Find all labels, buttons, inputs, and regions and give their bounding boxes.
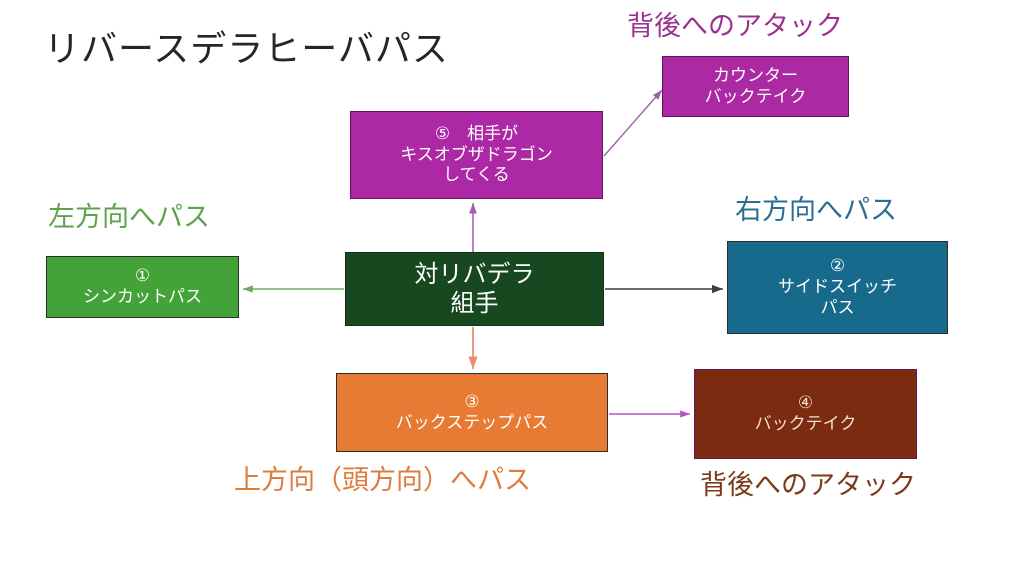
- node-shin-cut-pass[interactable]: ① シンカットパス: [46, 256, 239, 318]
- node-kiss-of-the-dragon[interactable]: ⑤ 相手が キスオブザドラゴン してくる: [350, 111, 603, 199]
- node-counter-backtake-line2: バックテイク: [705, 87, 807, 108]
- node-center-grip[interactable]: 対リバデラ 組手: [345, 252, 604, 326]
- node-backstep-pass-label: バックステップパス: [396, 413, 549, 434]
- node-backstep-pass[interactable]: ③ バックステップパス: [336, 373, 608, 452]
- label-up-direction: 上方向（頭方向）へパス: [234, 466, 531, 496]
- node-backtake[interactable]: ④ バックテイク: [694, 369, 917, 459]
- node-backtake-number: ④: [798, 393, 813, 414]
- node-side-switch-pass[interactable]: ② サイドスイッチ パス: [727, 241, 948, 334]
- node-shin-cut-pass-number: ①: [135, 266, 150, 287]
- connector-kiss-to-counter-backtake: [604, 90, 662, 156]
- node-side-switch-pass-number: ②: [830, 256, 845, 277]
- node-shin-cut-pass-label: シンカットパス: [83, 287, 202, 308]
- label-right-direction: 右方向へパス: [735, 196, 897, 226]
- node-kiss-of-the-dragon-line2: キスオブザドラゴン: [400, 145, 553, 166]
- label-attack-to-back-top: 背後へのアタック: [627, 12, 843, 42]
- node-counter-backtake-line1: カウンター: [713, 66, 798, 87]
- node-counter-backtake[interactable]: カウンター バックテイク: [662, 56, 849, 117]
- slide-canvas: リバースデラヒーバパス 左方向へパス 右方向へパス 上方向（頭方向）へパス 背後…: [0, 0, 1024, 576]
- node-center-grip-line1: 対リバデラ: [415, 260, 535, 289]
- node-center-grip-line2: 組手: [451, 289, 499, 318]
- node-backstep-pass-number: ③: [464, 392, 479, 413]
- node-backtake-label: バックテイク: [755, 414, 857, 435]
- label-left-direction: 左方向へパス: [48, 203, 210, 233]
- label-attack-to-back-bottom: 背後へのアタック: [700, 471, 916, 501]
- page-title: リバースデラヒーバパス: [44, 20, 449, 72]
- node-side-switch-pass-line1: サイドスイッチ: [778, 277, 897, 298]
- node-kiss-of-the-dragon-line3: してくる: [443, 165, 510, 186]
- node-side-switch-pass-line2: パス: [821, 298, 855, 319]
- node-kiss-of-the-dragon-line1: ⑤ 相手が: [435, 124, 518, 145]
